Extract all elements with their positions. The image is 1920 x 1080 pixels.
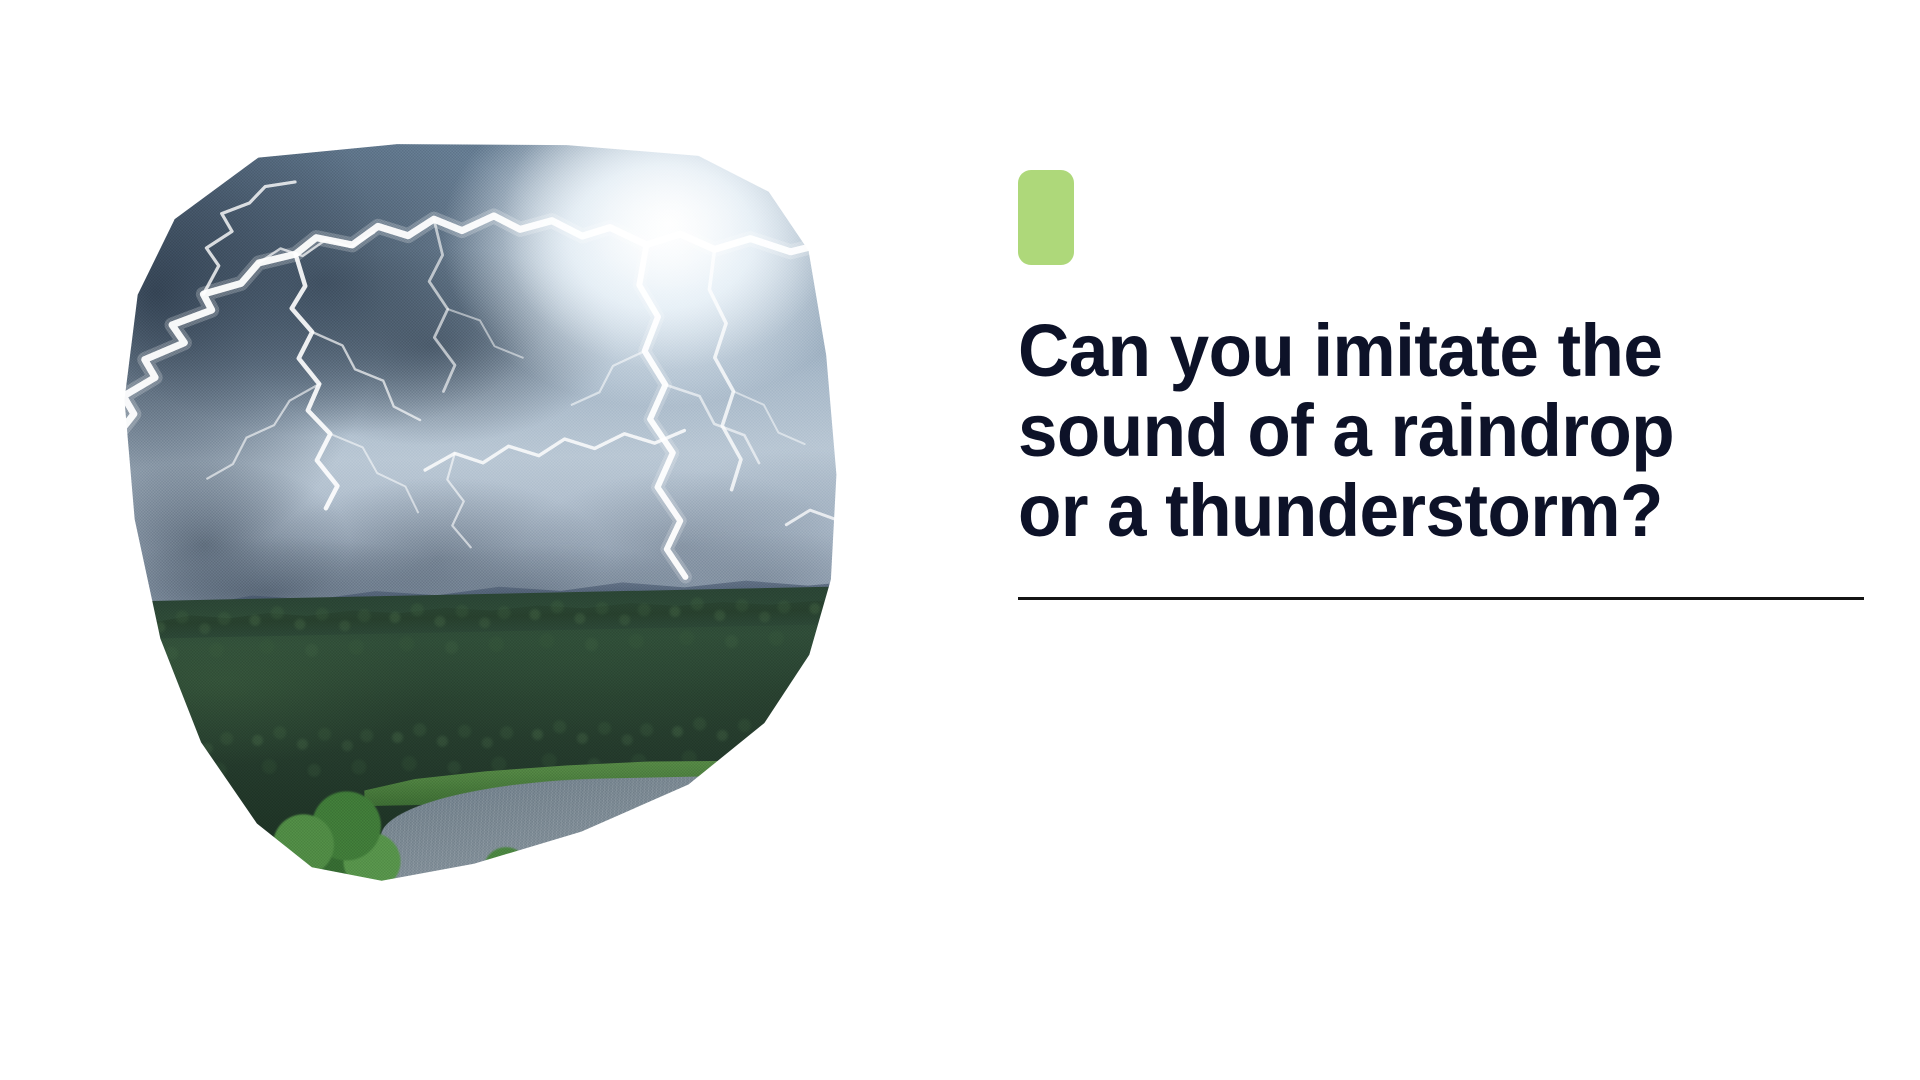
foreground-tree-b	[149, 816, 275, 894]
storm-landscape-photo	[88, 130, 875, 894]
far-shore-trees	[757, 728, 876, 880]
blob-image-mask	[88, 130, 875, 894]
media-figure	[96, 138, 868, 886]
photo-grain	[88, 130, 875, 894]
slide-root: Can you imitate the sound of a raindrop …	[0, 0, 1920, 1080]
content-panel: Can you imitate the sound of a raindrop …	[1018, 170, 1870, 600]
page-title: Can you imitate the sound of a raindrop …	[1018, 311, 1836, 551]
accent-badge	[1018, 170, 1074, 265]
divider-rule	[1018, 597, 1864, 600]
